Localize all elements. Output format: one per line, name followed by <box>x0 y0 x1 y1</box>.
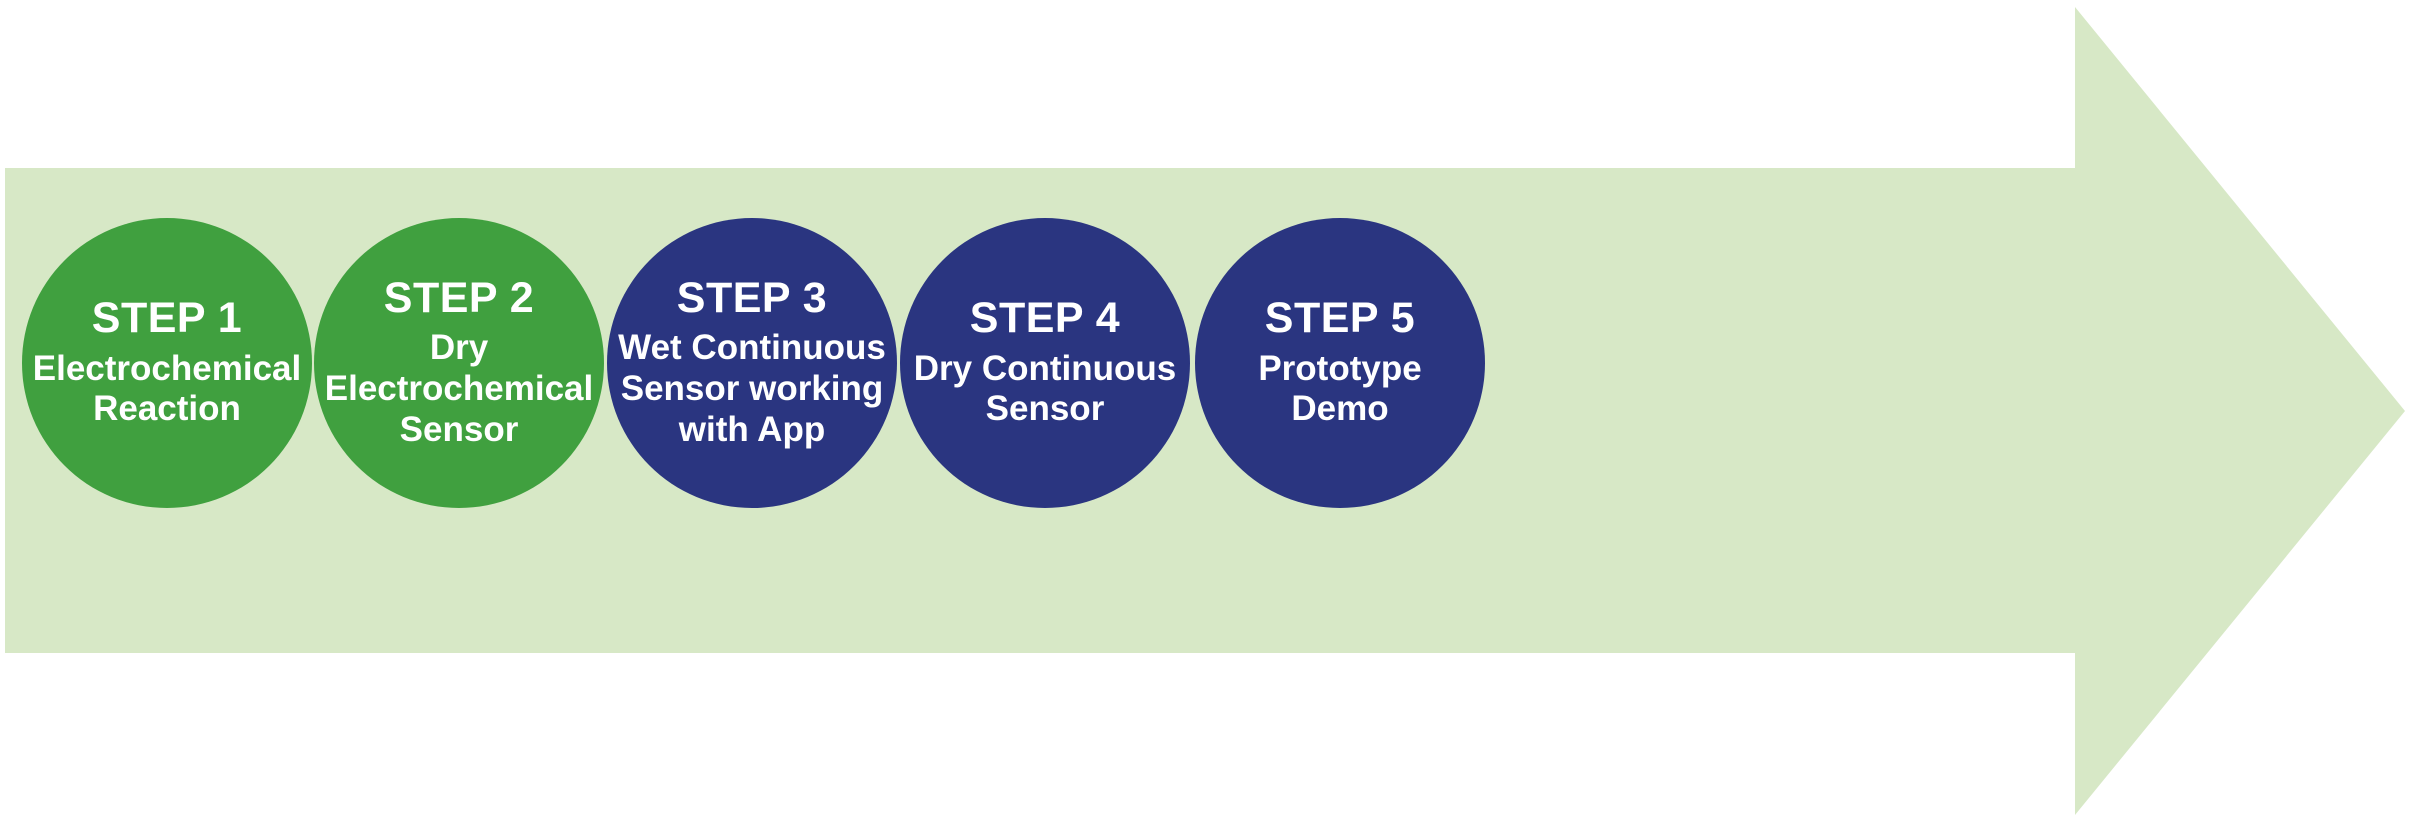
step-title-3: STEP 3 <box>677 276 827 322</box>
process-flow-diagram: STEP 1 Electrochemical Reaction STEP 2 D… <box>0 0 2410 830</box>
step-title-2: STEP 2 <box>384 276 534 322</box>
step-list: STEP 1 Electrochemical Reaction STEP 2 D… <box>0 0 2410 830</box>
step-title-5: STEP 5 <box>1265 296 1415 342</box>
step-title-4: STEP 4 <box>970 296 1120 342</box>
step-node-2[interactable]: STEP 2 Dry Electrochemical Sensor <box>314 218 604 508</box>
step-description-4: Dry Continuous Sensor <box>914 349 1176 430</box>
step-node-1[interactable]: STEP 1 Electrochemical Reaction <box>22 218 312 508</box>
step-description-2: Dry Electrochemical Sensor <box>325 328 593 450</box>
step-node-5[interactable]: STEP 5 Prototype Demo <box>1195 218 1485 508</box>
step-description-5: Prototype Demo <box>1258 349 1421 430</box>
step-node-4[interactable]: STEP 4 Dry Continuous Sensor <box>900 218 1190 508</box>
step-description-1: Electrochemical Reaction <box>33 349 301 430</box>
step-description-3: Wet Continuous Sensor working with App <box>618 328 886 450</box>
step-title-1: STEP 1 <box>92 296 242 342</box>
step-node-3[interactable]: STEP 3 Wet Continuous Sensor working wit… <box>607 218 897 508</box>
